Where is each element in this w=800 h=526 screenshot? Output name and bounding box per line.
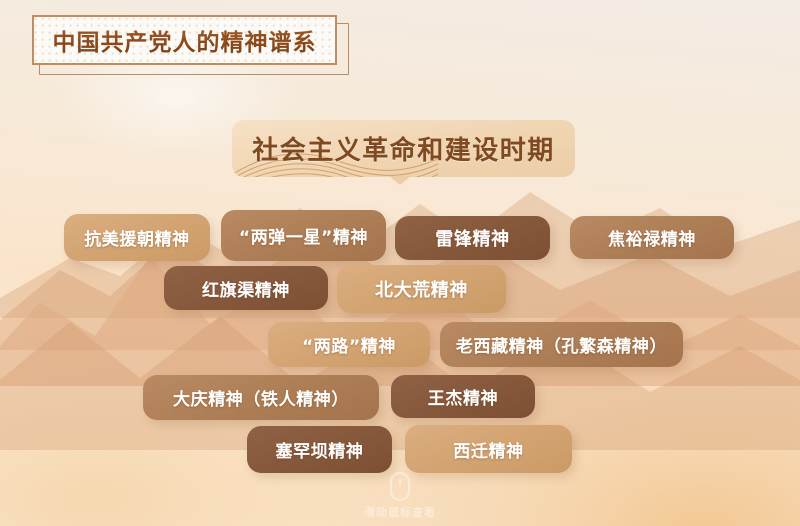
section-heading: 社会主义革命和建设时期 xyxy=(232,120,575,177)
spirit-pill[interactable]: “两弹一星”精神 xyxy=(221,210,386,261)
spirit-pill[interactable]: 西迁精神 xyxy=(405,425,572,473)
spirit-pill[interactable]: 焦裕禄精神 xyxy=(570,216,734,259)
spirit-pill[interactable]: 塞罕坝精神 xyxy=(247,426,392,473)
slide-canvas: 中国共产党人的精神谱系 社会主义革命和建设时期 抗美援朝精神“两弹一星”精神雷锋… xyxy=(0,0,800,526)
spirit-pill-label: 抗美援朝精神 xyxy=(84,225,190,250)
spirit-pill-label: 王杰精神 xyxy=(428,384,498,409)
spirit-pill-label: “两弹一星”精神 xyxy=(239,223,368,248)
scroll-hint: 滑动鼠标查看 xyxy=(0,472,800,520)
title-box: 中国共产党人的精神谱系 xyxy=(32,15,337,65)
spirit-pill-label: 焦裕禄精神 xyxy=(608,225,696,250)
spirit-pill-label: 西迁精神 xyxy=(453,437,523,462)
spirit-pill[interactable]: “两路”精神 xyxy=(268,322,430,367)
spirit-pill-label: 老西藏精神（孔繁森精神） xyxy=(456,332,667,357)
spirit-pill[interactable]: 北大荒精神 xyxy=(337,265,506,313)
spirit-pill[interactable]: 大庆精神（铁人精神） xyxy=(143,375,379,420)
spirit-pill[interactable]: 老西藏精神（孔繁森精神） xyxy=(440,322,683,367)
title-plaque: 中国共产党人的精神谱系 xyxy=(32,15,342,67)
mouse-icon xyxy=(390,472,410,501)
spirit-pill[interactable]: 王杰精神 xyxy=(391,375,535,418)
spirit-pill-label: 大庆精神（铁人精神） xyxy=(173,385,349,410)
spirit-pill-label: 塞罕坝精神 xyxy=(276,437,364,462)
heading-pointer xyxy=(389,176,411,185)
section-heading-label: 社会主义革命和建设时期 xyxy=(252,130,555,167)
spirit-pill[interactable]: 红旗渠精神 xyxy=(164,266,328,310)
spirit-pill-label: 北大荒精神 xyxy=(375,276,468,302)
spirit-pill-label: “两路”精神 xyxy=(302,332,396,357)
spirit-pill-label: 红旗渠精神 xyxy=(202,276,290,301)
spirit-pill[interactable]: 雷锋精神 xyxy=(395,216,550,260)
spirit-pill[interactable]: 抗美援朝精神 xyxy=(64,214,210,261)
page-title: 中国共产党人的精神谱系 xyxy=(53,23,317,57)
spirit-pill-label: 雷锋精神 xyxy=(435,225,509,251)
scroll-hint-label: 滑动鼠标查看 xyxy=(364,504,436,520)
